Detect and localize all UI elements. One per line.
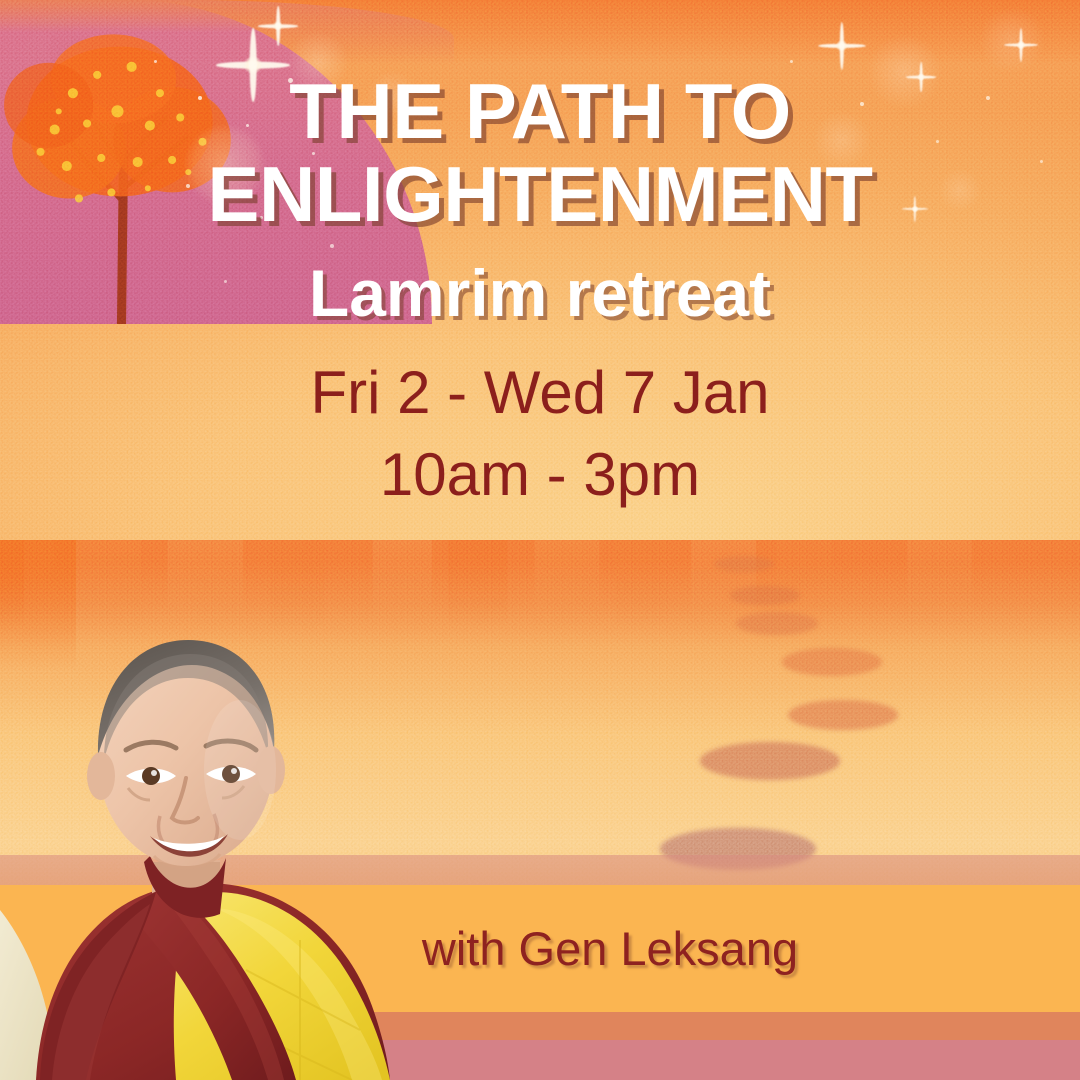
presenter-photo xyxy=(0,610,400,1080)
ear-left xyxy=(87,752,115,800)
poster-canvas: THE PATH TO ENLIGHTENMENT Lamrim retreat… xyxy=(0,0,1080,1080)
pupil-left xyxy=(142,767,160,785)
presenter-name: with Gen Leksang xyxy=(422,921,798,976)
subtitle: Lamrim retreat xyxy=(0,257,1080,331)
page-title-line-2: ENLIGHTENMENT xyxy=(0,153,1080,236)
poster-text-block: THE PATH TO ENLIGHTENMENT Lamrim retreat… xyxy=(0,70,1080,511)
page-title-line-1: THE PATH TO xyxy=(0,70,1080,153)
event-date: Fri 2 - Wed 7 Jan xyxy=(0,357,1080,429)
event-time: 10am - 3pm xyxy=(0,439,1080,511)
